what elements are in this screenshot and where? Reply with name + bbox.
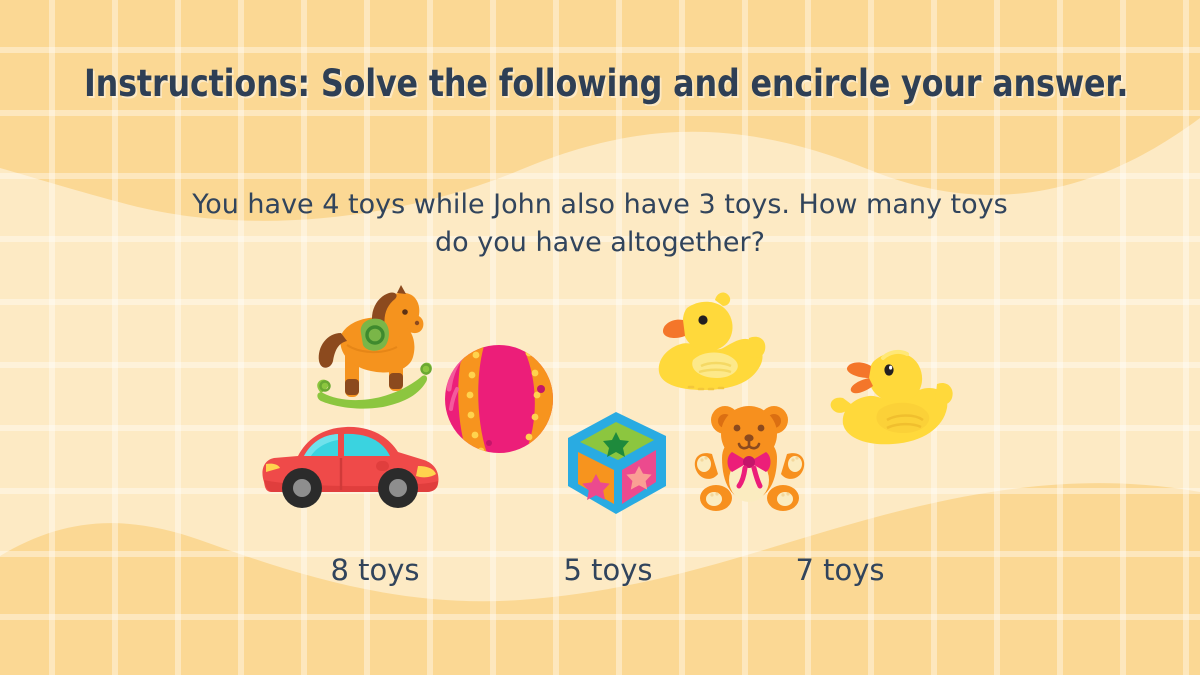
toy-block-icon xyxy=(562,408,672,518)
page-title: Instructions: Solve the following and en… xyxy=(84,62,1116,105)
teddy-bear-icon xyxy=(692,398,807,516)
answer-option-2[interactable]: 5 toys xyxy=(528,553,688,587)
question-line-1: You have 4 toys while John also have 3 t… xyxy=(150,186,1050,224)
answer-option-1[interactable]: 8 toys xyxy=(295,553,455,587)
question-line-2: do you have altogether? xyxy=(150,224,1050,262)
beach-ball-icon xyxy=(443,343,555,455)
rocking-horse-icon xyxy=(305,285,435,415)
toy-car-icon xyxy=(258,418,443,513)
worksheet-slide: Instructions: Solve the following and en… xyxy=(0,0,1200,675)
rubber-duck-left-icon xyxy=(645,290,770,395)
question-text: You have 4 toys while John also have 3 t… xyxy=(150,186,1050,262)
answer-option-3[interactable]: 7 toys xyxy=(760,553,920,587)
rubber-duck-right-icon xyxy=(827,340,955,452)
